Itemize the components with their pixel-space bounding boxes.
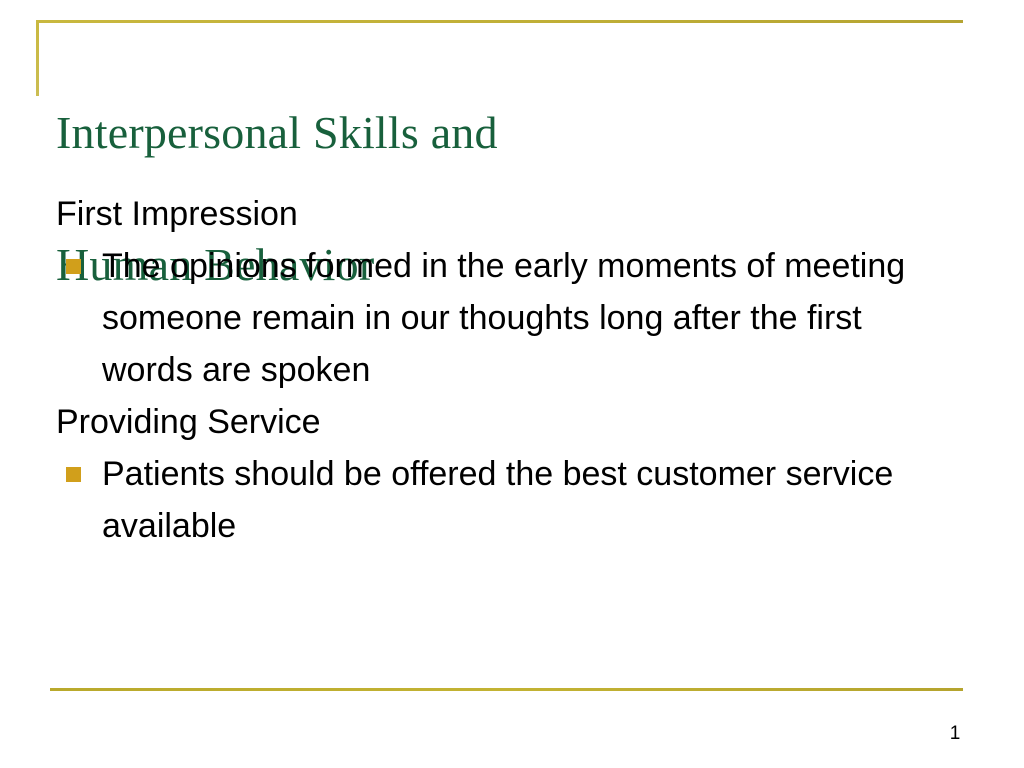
- body-bullet-text: Patients should be offered the best cust…: [102, 455, 893, 545]
- slide-title-line-1: Interpersonal Skills and: [56, 100, 956, 166]
- body-bullet-text: The opinions formed in the early moments…: [102, 247, 905, 389]
- slide-body: First Impression The opinions formed in …: [56, 188, 956, 552]
- body-bullet-first-impression: The opinions formed in the early moments…: [56, 240, 956, 396]
- page-number: 1: [930, 722, 980, 746]
- body-heading-first-impression: First Impression: [56, 188, 956, 240]
- square-bullet-icon: [66, 467, 81, 482]
- slide-canvas: Interpersonal Skills and Human Behavior …: [0, 0, 1024, 768]
- footer-rule: [50, 688, 963, 691]
- title-top-rule: [36, 20, 963, 23]
- body-bullet-providing-service: Patients should be offered the best cust…: [56, 448, 956, 552]
- square-bullet-icon: [66, 259, 81, 274]
- title-left-rule: [36, 20, 39, 96]
- body-heading-text: Providing Service: [56, 403, 321, 441]
- body-heading-text: First Impression: [56, 195, 298, 233]
- body-heading-providing-service: Providing Service: [56, 396, 956, 448]
